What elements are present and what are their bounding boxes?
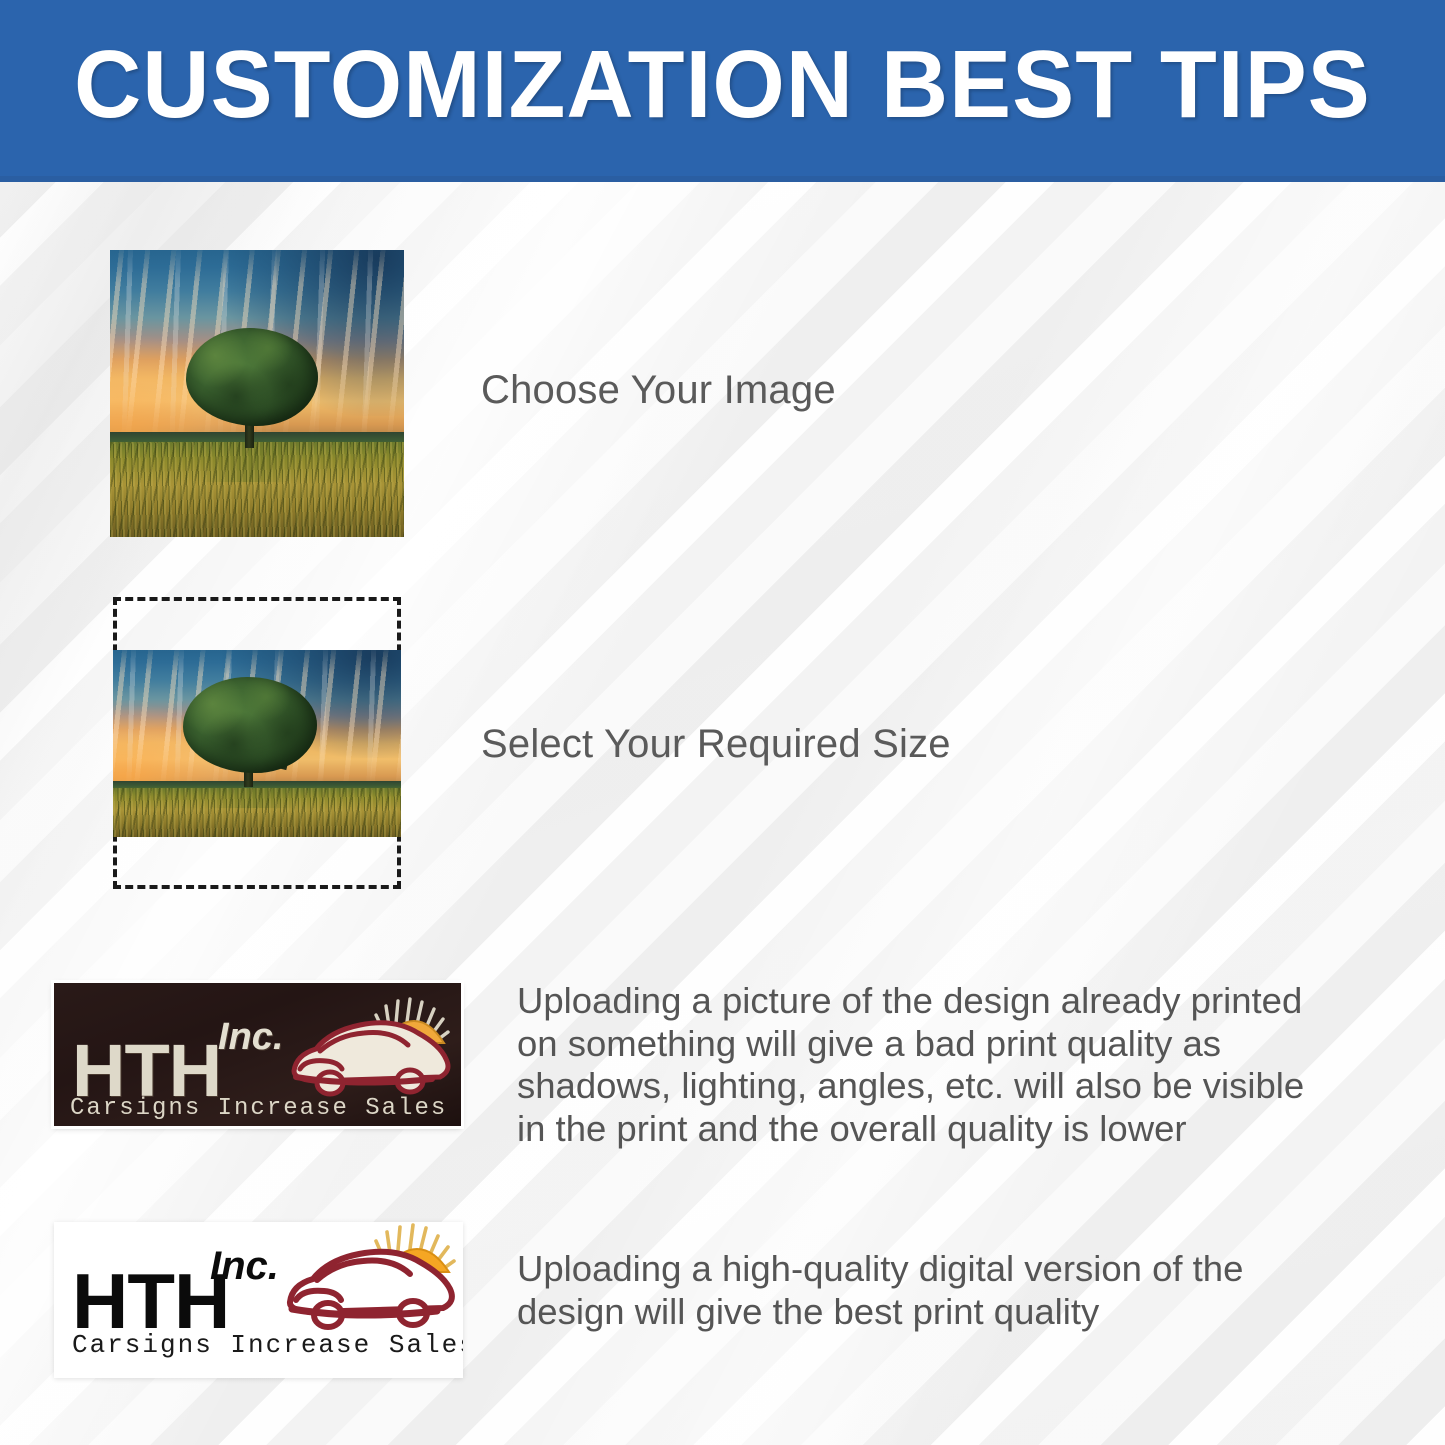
hth-logo-digital-white[interactable]: HTH Inc. [54,1222,463,1378]
photo-grass-texture [110,442,404,537]
text-line: in the print and the overall quality is … [517,1108,1417,1151]
photo-wheat-field [110,442,404,537]
text-line: Uploading a high-quality digital version… [517,1248,1417,1291]
hth-brand-text: HTH [72,1267,229,1336]
photo-tree-canopy [186,328,318,426]
step-label-choose-image: Choose Your Image [481,368,836,413]
page-title: CUSTOMIZATION BEST TIPS [74,37,1371,139]
car-logo-icon [282,1224,457,1336]
landscape-photo-square[interactable] [110,250,404,537]
photo-tree-canopy [183,677,317,773]
hth-logo-photo-dark[interactable]: HTH Inc. [54,983,461,1126]
text-line: shadows, lighting, angles, etc. will als… [517,1065,1417,1108]
header-banner: CUSTOMIZATION BEST TIPS [0,0,1445,182]
landscape-photo-cropped[interactable] [113,650,401,837]
step-label-bad-upload: Uploading a picture of the design alread… [517,980,1417,1151]
text-line: Uploading a picture of the design alread… [517,980,1417,1023]
photo-grass-texture [113,788,401,837]
car-logo-icon [286,997,452,1103]
step-label-select-size: Select Your Required Size [481,722,951,767]
text-line: design will give the best print quality [517,1291,1417,1334]
hth-tagline-text: Carsigns Increase Sales [70,1095,447,1122]
hth-inc-text: Inc. [218,1018,283,1056]
hth-inc-text: Inc. [210,1246,279,1286]
photo-wheat-field [113,788,401,837]
hth-tagline-text: Carsigns Increase Sales [72,1330,463,1360]
step-label-good-upload: Uploading a high-quality digital version… [517,1248,1417,1333]
text-line: on something will give a bad print quali… [517,1023,1417,1066]
infographic-page: CUSTOMIZATION BEST TIPS Choose Your Imag… [0,0,1445,1445]
hth-brand-text: HTH [72,1038,221,1103]
